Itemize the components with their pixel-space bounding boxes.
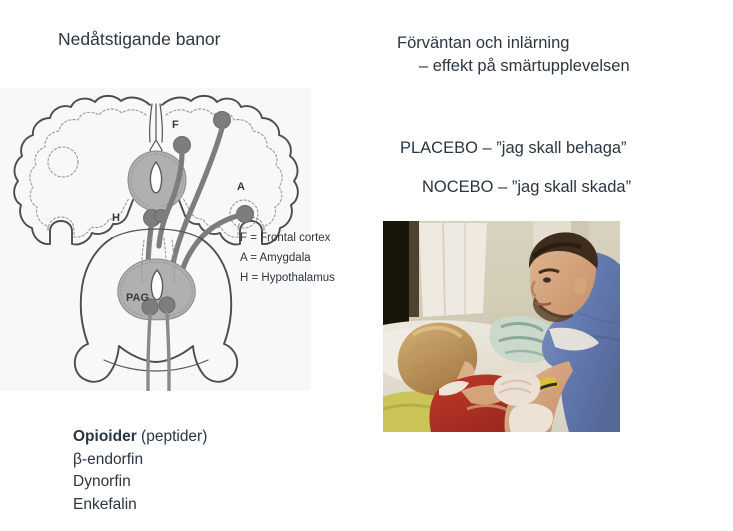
legend-item-frontal: F = Frontal cortex: [240, 229, 335, 249]
clinical-photo: [383, 221, 620, 432]
page-title-left: Nedåtstigande banor: [58, 29, 220, 51]
opioid-item-dynorfin: Dynorfin: [73, 471, 207, 494]
diagram-label-pag: PAG: [126, 292, 149, 304]
clinical-photo-image: [383, 221, 620, 432]
diagram-legend: F = Frontal cortex A = Amygdala H = Hypo…: [240, 229, 335, 288]
placebo-line: PLACEBO – ”jag skall behaga”: [400, 140, 631, 157]
page-title-right-line1: Förväntan och inlärning: [397, 34, 569, 52]
diagram-label-hypothalamus: H: [112, 212, 120, 224]
page-title-right: Förväntan och inlärning – effekt på smär…: [397, 32, 630, 79]
opioid-list-heading-bold: Opioider: [73, 428, 137, 445]
diagram-label-amygdala: A: [237, 181, 245, 193]
nocebo-line: NOCEBO – ”jag skall skada”: [400, 179, 631, 196]
opioid-item-endorfin: β-endorfin: [73, 449, 207, 472]
diagram-label-frontal: F: [172, 119, 179, 131]
opioid-item-enkefalin: Enkefalin: [73, 494, 207, 517]
placebo-nocebo-block: PLACEBO – ”jag skall behaga” NOCEBO – ”j…: [400, 140, 631, 217]
opioid-list-heading: Opioider (peptider): [73, 426, 207, 449]
legend-item-hypothalamus: H = Hypothalamus: [240, 269, 335, 289]
opioid-list-heading-rest: (peptider): [137, 428, 208, 445]
legend-item-amygdala: A = Amygdala: [240, 249, 335, 269]
page-title-right-line2: – effekt på smärtupplevelsen: [397, 55, 630, 78]
opioid-peptide-list: Opioider (peptider) β-endorfin Dynorfin …: [73, 426, 207, 517]
